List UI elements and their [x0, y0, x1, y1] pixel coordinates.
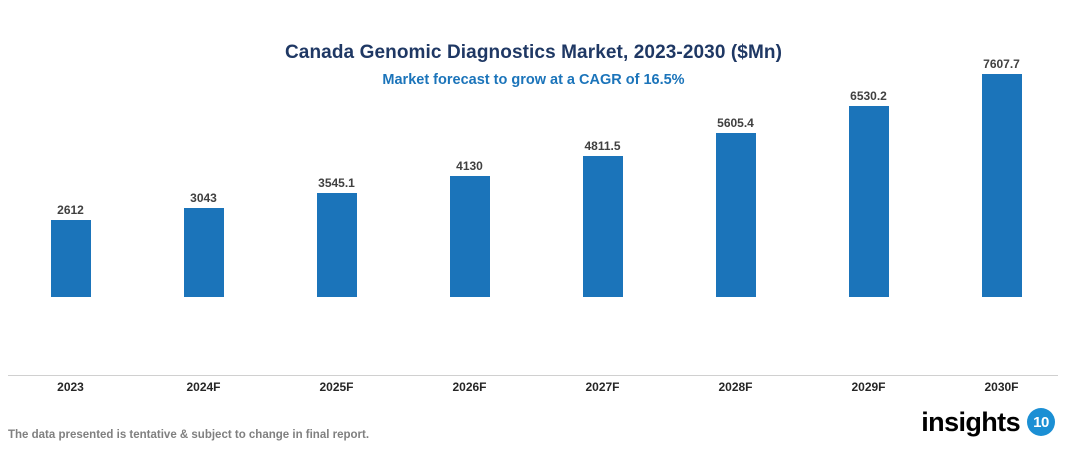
- bar-value-label: 2612: [4, 203, 137, 217]
- bar-group: 5605.4: [669, 115, 802, 297]
- logo-badge-icon: 10: [1027, 408, 1055, 436]
- bar-group: 2612: [4, 202, 137, 297]
- bar-wrapper: [935, 296, 1067, 297]
- insights10-logo: insights 10: [921, 408, 1055, 436]
- bar-group: 7607.7: [935, 56, 1067, 297]
- x-axis-tick-label: 2027F: [536, 378, 669, 396]
- x-axis-tick-label: 2030F: [935, 378, 1067, 396]
- bar-value-label: 4811.5: [536, 139, 669, 153]
- x-axis-tick-label: 2028F: [669, 378, 802, 396]
- bar-wrapper: [4, 296, 137, 297]
- bar[interactable]: [849, 106, 889, 297]
- bar-wrapper: [270, 296, 403, 297]
- bar-value-label: 3545.1: [270, 176, 403, 190]
- bar-group: 3545.1: [270, 175, 403, 297]
- bar-group: 6530.2: [802, 88, 935, 297]
- bar-value-label: 7607.7: [935, 57, 1067, 71]
- bar-group: 3043: [137, 190, 270, 297]
- x-axis-category-labels: 20232024F2025F2026F2027F2028F2029F2030F: [0, 378, 1067, 398]
- x-axis-tick-label: 2026F: [403, 378, 536, 396]
- logo-wordmark: insights: [921, 408, 1020, 436]
- bar-group: 4130: [403, 158, 536, 297]
- bar[interactable]: [51, 220, 91, 297]
- x-axis-line: [8, 375, 1058, 376]
- bar-wrapper: [137, 296, 270, 297]
- bar-wrapper: [669, 296, 802, 297]
- bar-wrapper: [802, 296, 935, 297]
- bar-value-label: 5605.4: [669, 116, 802, 130]
- x-axis-tick-label: 2023: [4, 378, 137, 396]
- bar-wrapper: [536, 296, 669, 297]
- bar[interactable]: [583, 156, 623, 297]
- bar[interactable]: [982, 74, 1022, 297]
- bar-wrapper: [403, 296, 536, 297]
- x-axis-tick-label: 2029F: [802, 378, 935, 396]
- x-axis-tick-label: 2024F: [137, 378, 270, 396]
- disclaimer-text: The data presented is tentative & subjec…: [8, 428, 369, 443]
- bar-value-label: 3043: [137, 191, 270, 205]
- bar-chart-plot-area: 261230433545.141304811.55605.46530.27607…: [0, 0, 1067, 376]
- bar-group: 4811.5: [536, 138, 669, 297]
- bar[interactable]: [450, 176, 490, 297]
- chart-page: Canada Genomic Diagnostics Market, 2023-…: [0, 0, 1067, 454]
- bar-value-label: 6530.2: [802, 89, 935, 103]
- bar[interactable]: [716, 133, 756, 297]
- bar[interactable]: [317, 193, 357, 297]
- x-axis-tick-label: 2025F: [270, 378, 403, 396]
- bar-value-label: 4130: [403, 159, 536, 173]
- bar[interactable]: [184, 208, 224, 297]
